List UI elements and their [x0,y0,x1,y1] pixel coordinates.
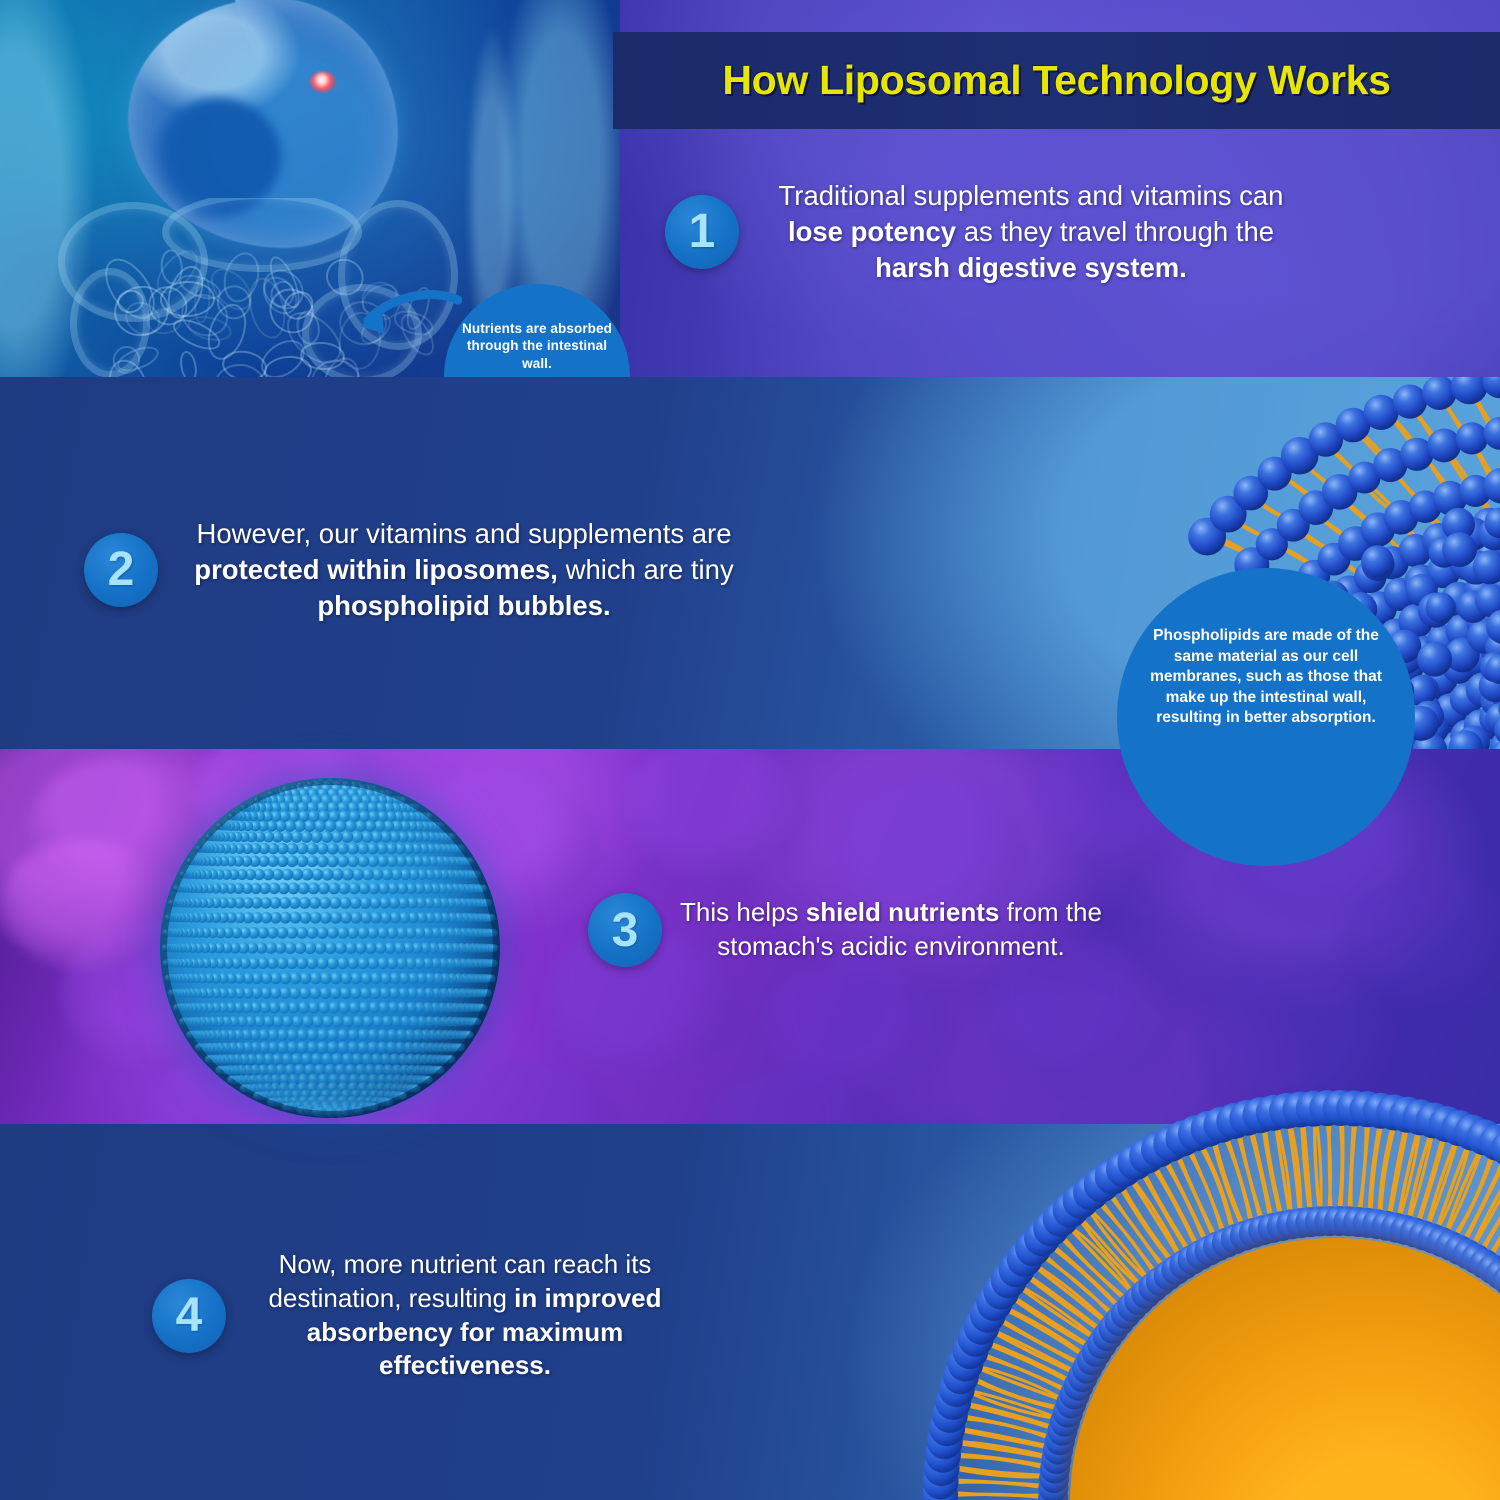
infographic-root: Nutrients are absorbed through the intes… [0,0,1500,1500]
liposome-sphere-illustration [160,778,500,1118]
phospholipids-callout: Phospholipids are made of the same mater… [1117,568,1415,866]
step-2-block: 2 However, our vitamins and supplements … [84,516,764,623]
liposome-surface-beads [160,778,500,1118]
step-3-number-badge: 3 [588,893,662,967]
step-4-text: Now, more nutrient can reach its destina… [240,1248,690,1383]
step-3-block: 3 This helps shield nutrients from the s… [588,893,1108,967]
step-4-block: 4 Now, more nutrient can reach its desti… [152,1248,712,1383]
liposome-cross-section-illustration [770,970,1500,1500]
title-bar: How Liposomal Technology Works [613,32,1500,129]
step-2-text: However, our vitamins and supplements ar… [174,516,754,623]
step-2-number-badge: 2 [84,533,158,607]
callout-text: Phospholipids are made of the same mater… [1150,627,1382,726]
page-title: How Liposomal Technology Works [722,57,1390,104]
intestine-illustration [52,198,472,377]
step-1-text: Traditional supplements and vitamins can… [757,178,1305,285]
step-4-number-badge: 4 [152,1279,226,1353]
step-1-block: 1 Traditional supplements and vitamins c… [665,178,1305,285]
step-1-number-badge: 1 [665,195,739,269]
step-3-text: This helps shield nutrients from the sto… [676,896,1106,964]
callout-text: Nutrients are absorbed through the intes… [462,321,612,371]
callout-arrow-icon [352,290,462,338]
nutrient-marker-icon [310,72,336,92]
